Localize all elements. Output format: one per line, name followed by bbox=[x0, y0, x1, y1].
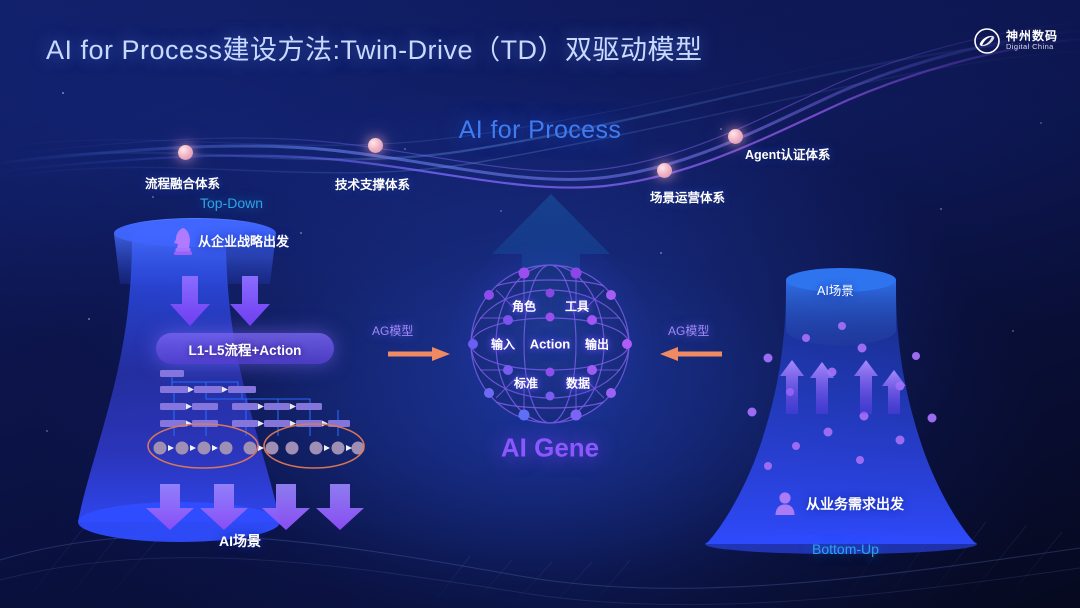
swirl-logo-icon bbox=[974, 28, 999, 53]
node-dot-icon-3 bbox=[728, 129, 743, 144]
right-direction-caption: Bottom-Up bbox=[812, 541, 879, 557]
right-funnel-bottom-label: 从业务需求出发 bbox=[806, 494, 904, 514]
brand-logo: 神州数码 Digital China bbox=[974, 28, 1058, 53]
chess-knight-icon bbox=[172, 226, 194, 256]
highlight-rings bbox=[146, 422, 368, 470]
left-funnel-pill: L1-L5流程+Action bbox=[156, 333, 334, 364]
logo-text-en: Digital China bbox=[1006, 43, 1058, 51]
sphere-center-label: Action bbox=[530, 337, 570, 352]
left-funnel-top-label: 从企业战略出发 bbox=[198, 231, 289, 250]
top-node-label-0: 流程融合体系 bbox=[145, 173, 220, 192]
left-funnel-down-arrows-top bbox=[168, 274, 272, 330]
sphere-node-label-3: 输出 bbox=[585, 336, 609, 353]
node-dot-icon-1 bbox=[368, 138, 383, 153]
sphere-node-label-1: 工具 bbox=[565, 298, 589, 315]
top-node-label-3: Agent认证体系 bbox=[745, 144, 830, 163]
sphere-node-label-5: 数据 bbox=[566, 375, 590, 392]
left-funnel-down-arrows-bottom bbox=[146, 484, 366, 532]
logo-text-cn: 神州数码 bbox=[1006, 30, 1058, 43]
left-funnel-pill-label: L1-L5流程+Action bbox=[189, 339, 302, 359]
page-title: AI for Process建设方法:Twin-Drive（TD）双驱动模型 bbox=[46, 28, 703, 67]
arrow-right-icon bbox=[388, 346, 450, 362]
sphere-node-label-4: 标准 bbox=[514, 375, 538, 392]
slide-canvas: AI for Process建设方法:Twin-Drive（TD）双驱动模型 神… bbox=[0, 0, 1080, 608]
center-title: AI for Process bbox=[459, 116, 622, 145]
ai-gene-caption: AI Gene bbox=[501, 433, 599, 464]
right-funnel-up-arrows bbox=[780, 360, 906, 416]
left-funnel-bottom-label: AI场景 bbox=[219, 531, 261, 551]
sphere-node-label-0: 角色 bbox=[512, 298, 536, 315]
left-connector-label: AG模型 bbox=[372, 322, 413, 339]
sphere-node-label-2: 输入 bbox=[491, 336, 515, 353]
top-node-label-2: 场景运营体系 bbox=[650, 187, 725, 206]
left-direction-caption: Top-Down bbox=[200, 195, 263, 211]
top-node-label-1: 技术支撑体系 bbox=[335, 174, 410, 193]
node-dot-icon-0 bbox=[178, 145, 193, 160]
ai-gene-sphere: 角色 工具 输入 Action 输出 标准 数据 bbox=[466, 260, 634, 428]
right-funnel-top-label: AI场景 bbox=[817, 280, 854, 299]
person-icon bbox=[774, 491, 796, 515]
node-dot-icon-2 bbox=[657, 163, 672, 178]
